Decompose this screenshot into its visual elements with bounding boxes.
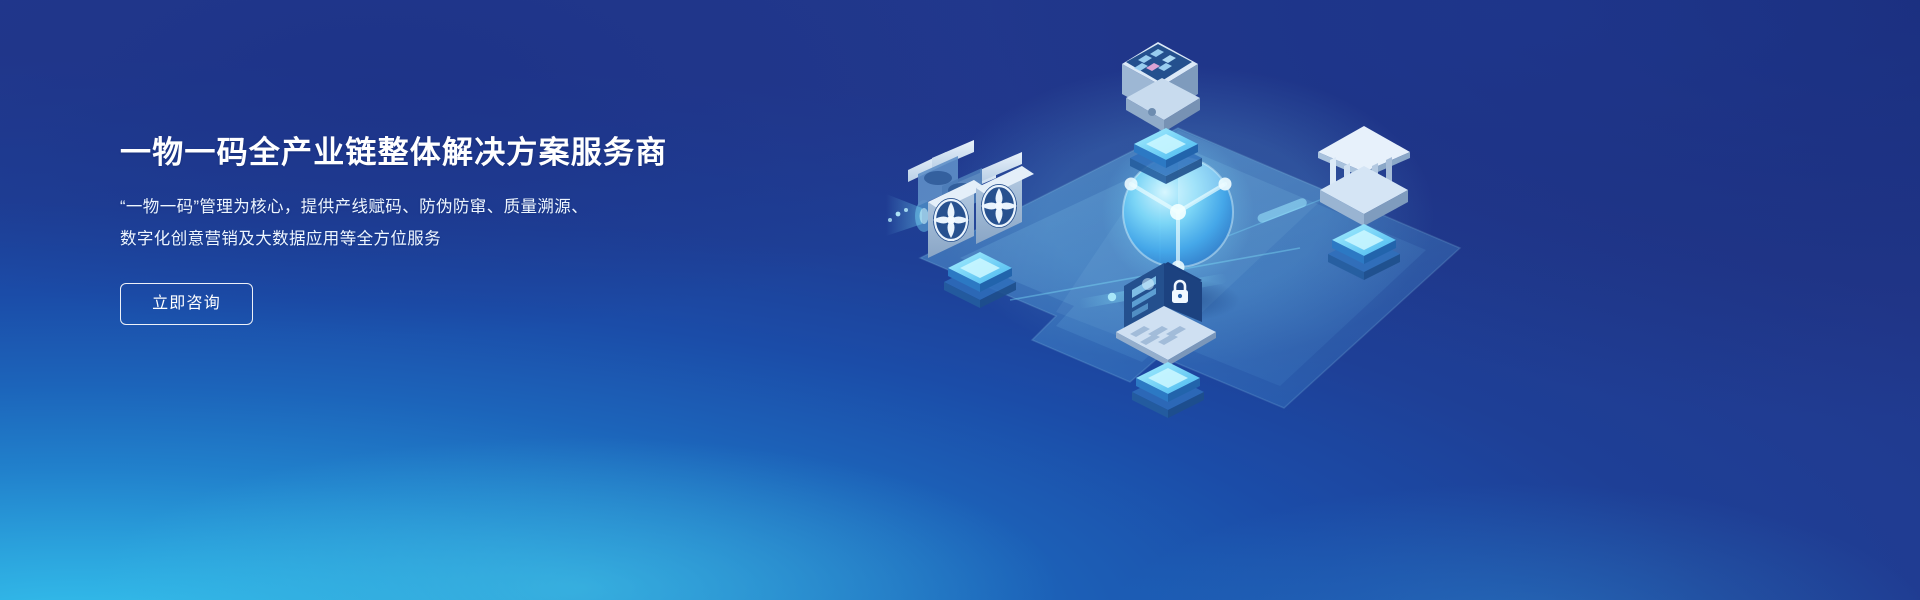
hero-subtitle-line-2: 数字化创意营销及大数据应用等全方位服务: [120, 223, 760, 255]
consult-now-button[interactable]: 立即咨询: [120, 283, 253, 325]
page-title: 一物一码全产业链整体解决方案服务商: [120, 131, 760, 175]
cta-container: 立即咨询: [120, 283, 760, 325]
hero-copy: 一物一码全产业链整体解决方案服务商 “一物一码”管理为核心，提供产线赋码、防伪防…: [120, 131, 760, 325]
hero-banner: 一物一码全产业链整体解决方案服务商 “一物一码”管理为核心，提供产线赋码、防伪防…: [0, 0, 1920, 600]
background-right-glow: [922, 420, 1920, 600]
hero-subtitle-line-1: “一物一码”管理为核心，提供产线赋码、防伪防窜、质量溯源、: [120, 191, 760, 223]
